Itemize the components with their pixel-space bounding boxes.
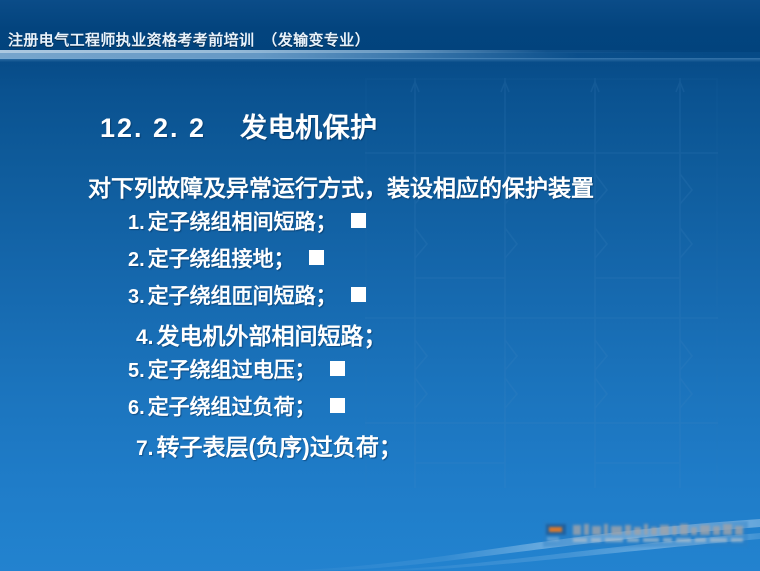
item-marker-square (351, 287, 366, 302)
list-item-label: 发电机外部相间短路； (157, 317, 387, 351)
list-item-index: 5. (128, 360, 145, 383)
section-number: 12. 2. 2 (100, 113, 206, 143)
list-item-index: 7. (136, 437, 154, 461)
list-item-label: 定子绕组过电压； (148, 354, 316, 384)
list-item: 6. 定子绕组过负荷； (128, 391, 628, 428)
list-item-label: 转子表层(负序)过负荷； (157, 428, 402, 462)
list-item: 5. 定子绕组过电压； (128, 354, 628, 391)
protection-items-list: 1. 定子绕组相间短路； 2. 定子绕组接地； 3. 定子绕组匝间短路； 4. … (128, 206, 628, 465)
list-item: 4. 发电机外部相间短路； (128, 317, 628, 354)
section-heading: 12. 2. 2发电机保护 (100, 106, 378, 145)
list-item-index: 6. (128, 397, 145, 420)
course-title: 注册电气工程师执业资格考考前培训 （发输变专业） (8, 29, 370, 50)
presentation-slide: 注册电气工程师执业资格考考前培训 （发输变专业） (0, 0, 760, 571)
item-marker-square (330, 398, 345, 413)
header-divider-shadow (0, 58, 760, 65)
list-item: 2. 定子绕组接地； (128, 243, 628, 280)
list-item-index: 2. (128, 249, 145, 272)
list-item-label: 定子绕组过负荷； (148, 391, 316, 421)
list-item-index: 4. (136, 326, 154, 350)
list-item-label: 定子绕组接地； (148, 243, 295, 273)
list-item: 3. 定子绕组匝间短路； (128, 280, 628, 317)
list-item-label: 定子绕组匝间短路； (148, 280, 337, 310)
list-item: 7. 转子表层(负序)过负荷； (128, 428, 628, 465)
blurred-logo-watermark (543, 521, 748, 547)
list-item-index: 3. (128, 286, 145, 309)
item-marker-square (351, 213, 366, 228)
item-marker-square (309, 250, 324, 265)
list-item: 1. 定子绕组相间短路； (128, 206, 628, 243)
lead-paragraph: 对下列故障及异常运行方式，装设相应的保护装置 (88, 169, 594, 203)
section-title-text: 发电机保护 (240, 113, 378, 143)
list-item-index: 1. (128, 212, 145, 235)
list-item-label: 定子绕组相间短路； (148, 206, 337, 236)
item-marker-square (330, 361, 345, 376)
